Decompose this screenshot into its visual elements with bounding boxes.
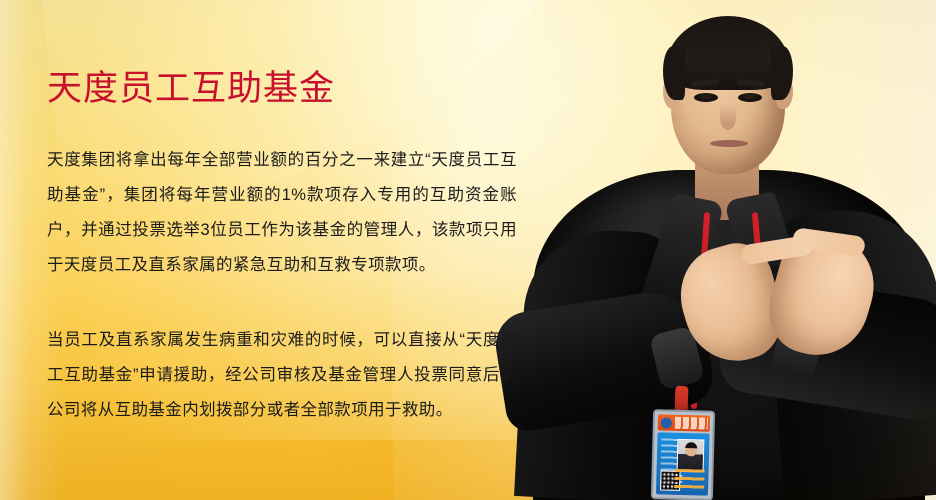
copy-block: 天度员工互助基金 天度集团将拿出每年全部营业额的百分之一来建立“天度员工互助基金…	[47, 0, 547, 500]
eye-left	[694, 93, 718, 102]
hair-side-left	[663, 46, 685, 100]
badge-body	[656, 432, 710, 495]
employee-mutual-aid-fund-banner: 天度员工互助基金 天度集团将拿出每年全部营业额的百分之一来建立“天度员工互助基金…	[0, 0, 936, 500]
person-photo	[505, 0, 936, 500]
body-paragraph-1: 天度集团将拿出每年全部营业额的百分之一来建立“天度员工互助基金”，集团将每年营业…	[47, 143, 517, 283]
badge-portrait-photo	[677, 439, 705, 473]
company-logo-icon	[661, 417, 672, 428]
badge-header-bar	[658, 414, 710, 431]
badge-company-name	[675, 417, 708, 430]
body-paragraph-2: 当员工及直系家属发生病重和灾难的时候，可以直接从“天度员工互助基金”申请援助，经…	[47, 323, 517, 428]
employee-id-badge	[651, 409, 715, 500]
nose	[720, 104, 736, 130]
page-title: 天度员工互助基金	[47, 68, 335, 110]
eye-right	[738, 93, 762, 102]
badge-detail-lines	[674, 469, 705, 492]
mouth	[710, 140, 748, 147]
